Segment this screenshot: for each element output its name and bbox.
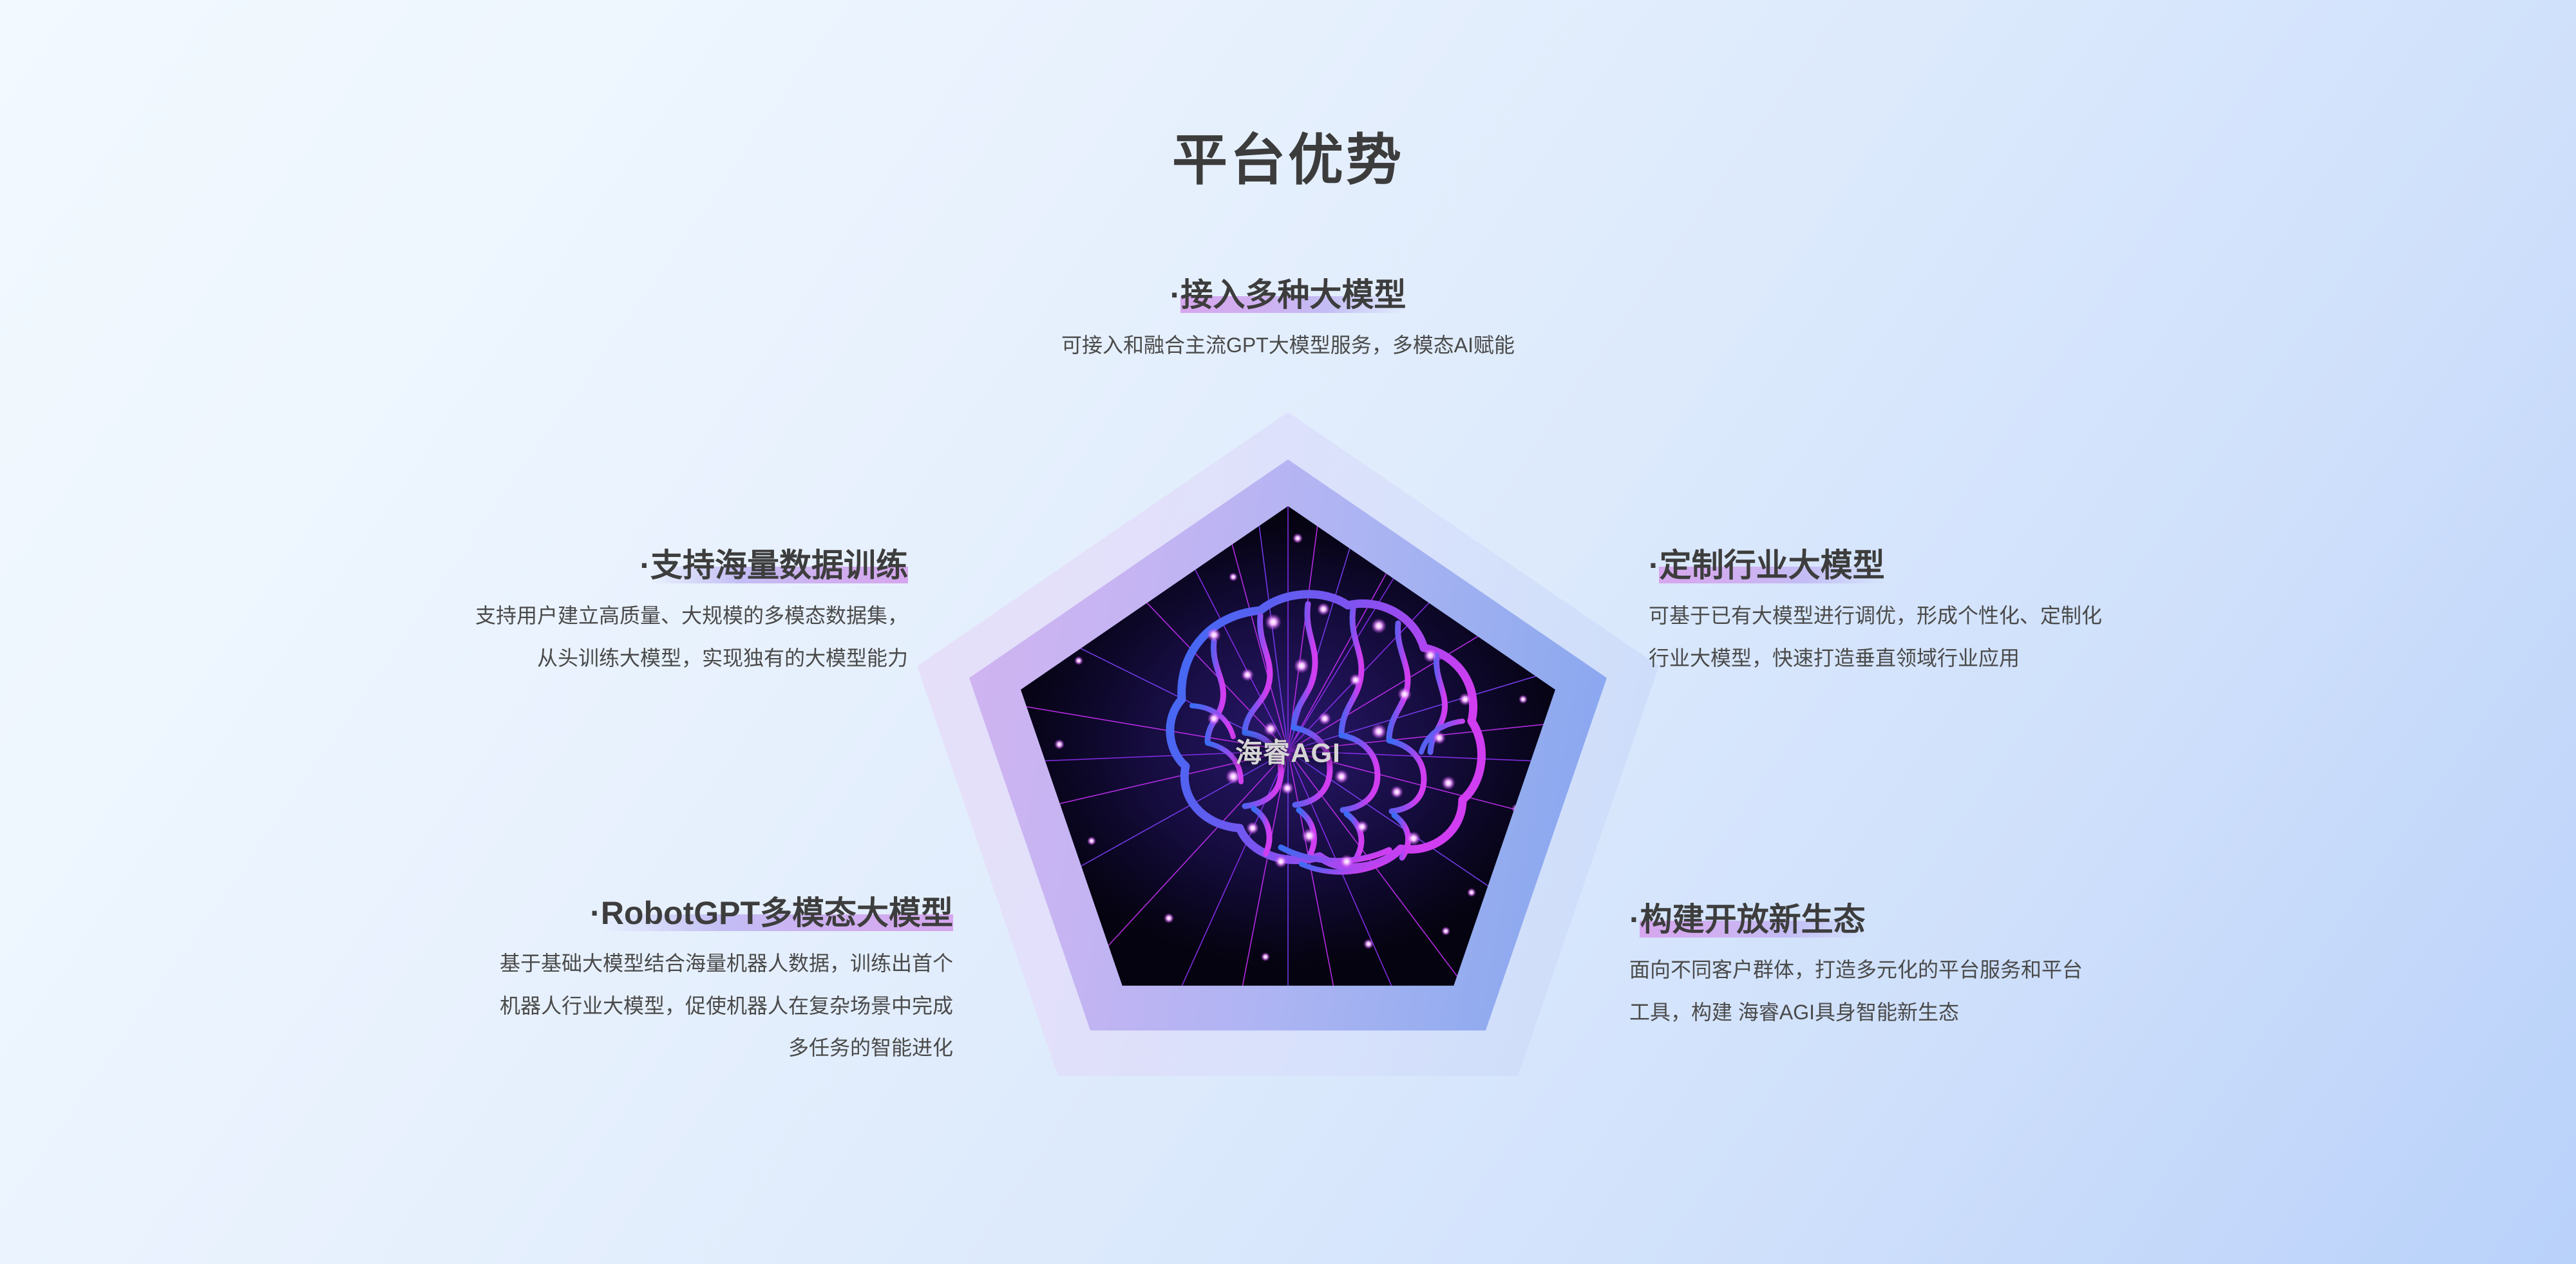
center-brand-label: 海睿AGI <box>1235 731 1341 771</box>
feature-block-left-mid: ·支持海量数据训练 支持用户建立高质量、大规模的多模态数据集， 从头训练大模型，… <box>148 547 908 679</box>
feature-block-right-bottom: ·构建开放新生态 面向不同客户群体，打造多元化的平台服务和平台 工具，构建 海睿… <box>1629 901 2467 1033</box>
feature-title-right-bottom: ·构建开放新生态 <box>1629 901 1866 939</box>
feature-title-left-bottom: ·RobotGPT多模态大模型 <box>590 895 953 932</box>
pentagon-graphic: 海睿AGI <box>917 390 1659 1111</box>
feature-desc-line: 支持用户建立高质量、大规模的多模态数据集， <box>148 595 908 637</box>
feature-bullet-left-mid: · <box>639 547 650 583</box>
feature-title-right-mid: ·定制行业大模型 <box>1649 547 1885 585</box>
feature-desc-left-bottom: 基于基础大模型结合海量机器人数据，训练出首个 机器人行业大模型，促使机器人在复杂… <box>116 943 953 1070</box>
page-title: 平台优势 <box>0 115 2576 195</box>
feature-title-top: ·接入多种大模型 <box>1170 277 1406 314</box>
feature-desc-line: 面向不同客户群体，打造多元化的平台服务和平台 <box>1629 949 2467 992</box>
feature-desc-right-mid: 可基于已有大模型进行调优，形成个性化、定制化 行业大模型，快速打造垂直领域行业应… <box>1649 595 2486 679</box>
feature-desc-left-mid: 支持用户建立高质量、大规模的多模态数据集， 从头训练大模型，实现独有的大模型能力 <box>148 595 908 679</box>
feature-desc-line: 工具，构建 海睿AGI具身智能新生态 <box>1629 992 2467 1034</box>
feature-title-text-top: 接入多种大模型 <box>1180 277 1406 313</box>
feature-desc-line: 多任务的智能进化 <box>116 1027 953 1070</box>
feature-title-left-mid: ·支持海量数据训练 <box>639 547 908 585</box>
feature-desc-line: 行业大模型，快速打造垂直领域行业应用 <box>1649 637 2486 680</box>
feature-bullet-right-mid: · <box>1649 547 1660 583</box>
feature-desc-line: 机器人行业大模型，促使机器人在复杂场景中完成 <box>116 985 953 1028</box>
feature-desc-line: 可接入和融合主流GPT大模型服务，多模态AI赋能 <box>708 325 1868 367</box>
feature-title-text-left-mid: 支持海量数据训练 <box>650 547 908 583</box>
feature-bullet-top: · <box>1170 277 1181 313</box>
feature-desc-line: 可基于已有大模型进行调优，形成个性化、定制化 <box>1649 595 2486 637</box>
feature-title-text-right-bottom: 构建开放新生态 <box>1640 901 1866 938</box>
feature-desc-line: 基于基础大模型结合海量机器人数据，训练出首个 <box>116 943 953 985</box>
feature-title-text-left-bottom: RobotGPT多模态大模型 <box>601 895 953 931</box>
feature-block-left-bottom: ·RobotGPT多模态大模型 基于基础大模型结合海量机器人数据，训练出首个 机… <box>116 895 953 1070</box>
feature-block-right-mid: ·定制行业大模型 可基于已有大模型进行调优，形成个性化、定制化 行业大模型，快速… <box>1649 547 2486 679</box>
feature-desc-top: 可接入和融合主流GPT大模型服务，多模态AI赋能 <box>708 325 1868 367</box>
feature-block-top: ·接入多种大模型 可接入和融合主流GPT大模型服务，多模态AI赋能 <box>708 277 1868 367</box>
feature-bullet-right-bottom: · <box>1629 901 1640 938</box>
feature-title-text-right-mid: 定制行业大模型 <box>1660 547 1885 583</box>
feature-desc-line: 从头训练大模型，实现独有的大模型能力 <box>148 637 908 680</box>
feature-bullet-left-bottom: · <box>590 895 601 931</box>
feature-desc-right-bottom: 面向不同客户群体，打造多元化的平台服务和平台 工具，构建 海睿AGI具身智能新生… <box>1629 949 2467 1033</box>
